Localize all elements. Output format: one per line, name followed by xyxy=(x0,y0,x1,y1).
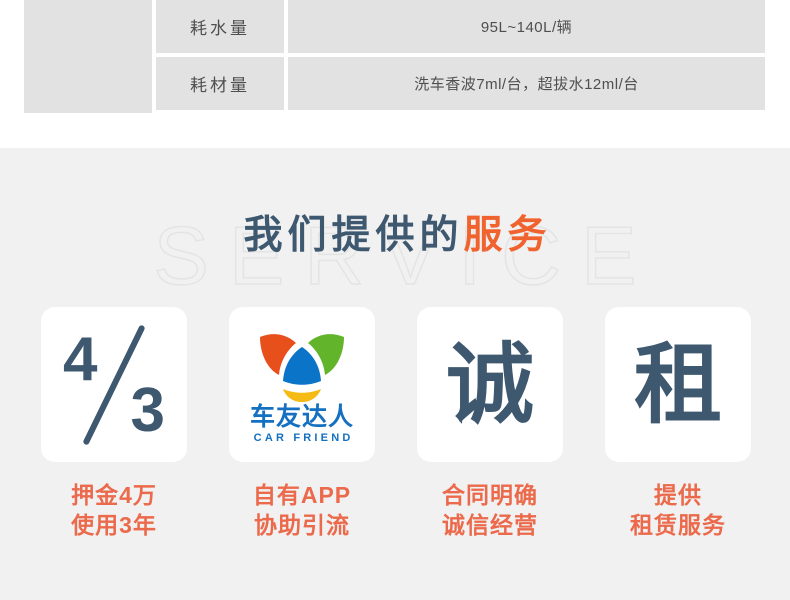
spec-row-1-value: 95L~140L/辆 xyxy=(288,0,765,53)
caption-line-1: 合同明确 xyxy=(442,480,538,510)
spec-row-2-value: 洗车香波7ml/台，超拔水12ml/台 xyxy=(288,57,765,110)
car-friend-logo: 车友达人 CAR FRIEND xyxy=(229,307,375,462)
service-card-caption: 提供 租赁服务 xyxy=(630,480,726,541)
list-item: 4 3 押金4万 使用3年 xyxy=(41,307,187,541)
page-title-accent: 服务 xyxy=(464,214,552,257)
spec-table: 耗水量 95L~140L/辆 耗材量 洗车香波7ml/台，超拔水12ml/台 xyxy=(24,0,765,113)
brand-name-en: CAR FRIEND xyxy=(250,433,353,444)
cheng-character-icon: 诚 xyxy=(446,341,534,429)
fraction-numerator: 4 xyxy=(63,329,97,391)
spec-row-2-spacer-cell xyxy=(24,57,152,110)
spec-row-1-spacer-cell xyxy=(24,0,152,53)
page-title: 我们提供的服务 xyxy=(0,210,790,263)
service-card-list: 4 3 押金4万 使用3年 车友达 xyxy=(41,307,751,541)
brand-name-cn: 车友达人 xyxy=(250,405,354,430)
car-friend-logo-mark-icon xyxy=(250,329,354,403)
table-row: 耗水量 95L~140L/辆 xyxy=(24,0,765,53)
table-row: 耗材量 洗车香波7ml/台，超拔水12ml/台 xyxy=(24,57,765,110)
service-card-caption: 合同明确 诚信经营 xyxy=(442,480,538,541)
service-card-rental[interactable]: 租 xyxy=(605,307,751,462)
service-card-deposit[interactable]: 4 3 xyxy=(41,307,187,462)
service-heading-wrap: SERVICE 我们提供的服务 xyxy=(0,186,790,306)
fraction-denominator: 3 xyxy=(131,380,165,442)
service-card-contract[interactable]: 诚 xyxy=(417,307,563,462)
caption-line-2: 使用3年 xyxy=(71,510,157,540)
caption-line-1: 自有APP xyxy=(253,480,351,510)
zu-character-icon: 租 xyxy=(634,341,722,429)
spec-row-2-label: 耗材量 xyxy=(156,57,284,110)
caption-line-1: 提供 xyxy=(630,480,726,510)
caption-line-2: 协助引流 xyxy=(253,510,351,540)
four-over-three-icon: 4 3 xyxy=(41,307,187,462)
caption-line-2: 诚信经营 xyxy=(442,510,538,540)
caption-line-2: 租赁服务 xyxy=(630,510,726,540)
list-item: 诚 合同明确 诚信经营 xyxy=(417,307,563,541)
spec-row-1-label: 耗水量 xyxy=(156,0,284,53)
service-card-caption: 押金4万 使用3年 xyxy=(71,480,157,541)
page-title-main: 我们提供的 xyxy=(243,214,463,257)
list-item: 租 提供 租赁服务 xyxy=(605,307,751,541)
service-card-caption: 自有APP 协助引流 xyxy=(253,480,351,541)
list-item: 车友达人 CAR FRIEND 自有APP 协助引流 xyxy=(229,307,375,541)
caption-line-1: 押金4万 xyxy=(71,480,157,510)
service-card-app[interactable]: 车友达人 CAR FRIEND xyxy=(229,307,375,462)
service-section: SERVICE 我们提供的服务 4 3 押金4万 使用3年 xyxy=(0,148,790,600)
